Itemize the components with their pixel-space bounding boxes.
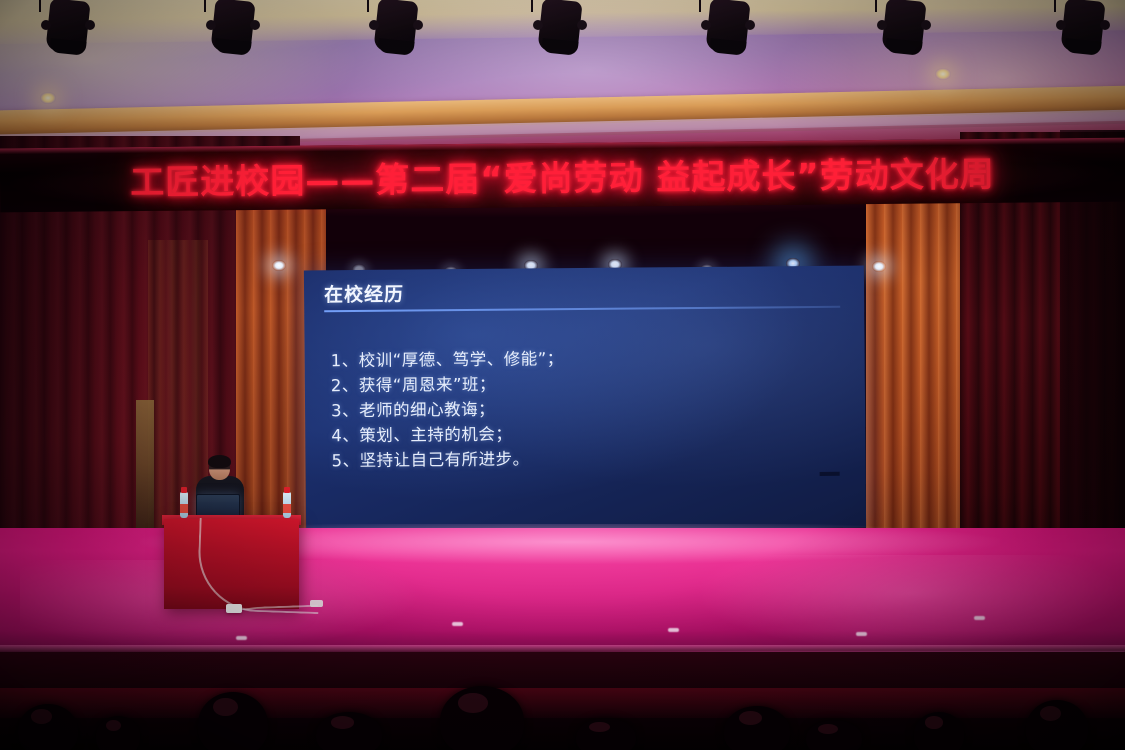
audience-head [806, 720, 862, 750]
floor-sparkle [668, 628, 679, 632]
ceiling-downlight [40, 92, 56, 104]
slide-title-rule [324, 306, 840, 313]
bottle-cap [181, 487, 187, 493]
audience-head [18, 704, 78, 750]
audience-head [1026, 700, 1088, 750]
slide-bullet-list: 1、校训“厚德、笃学、修能”；2、获得“周恩来”班；3、老师的细心教诲；4、策划… [331, 344, 842, 473]
power-adapter-brick [226, 604, 242, 613]
auditorium-photo: 工匠进校园——第二届“爱尚劳动 益起成长”劳动文化周 在校经历 1、校训“厚德、… [0, 0, 1125, 750]
audience-head [914, 712, 964, 750]
floor-sparkle [452, 622, 463, 626]
slide-bullet: 5、坚持让自己有所进步。 [331, 444, 841, 473]
floor-light-pool-right [700, 555, 1120, 650]
spotlight [872, 261, 886, 272]
audience-head [316, 712, 382, 750]
spotlight [272, 260, 286, 271]
floor-sparkle [856, 632, 867, 636]
floor-sparkle [974, 616, 985, 620]
presenter-hair [208, 455, 231, 468]
bottle-cap [284, 487, 290, 493]
stage-door-gap [136, 400, 154, 528]
audience-seat-row [0, 688, 1125, 718]
led-banner: 工匠进校园——第二届“爱尚劳动 益起成长”劳动文化周 [0, 138, 1125, 213]
projection-screen: 在校经历 1、校训“厚德、笃学、修能”；2、获得“周恩来”班；3、老师的细心教诲… [304, 266, 866, 533]
audience-head [440, 686, 524, 750]
power-adapter-plug [310, 600, 323, 607]
bottle-label [283, 504, 291, 513]
audience-head [576, 718, 636, 750]
floor-sparkle [236, 636, 247, 640]
audience-area [0, 652, 1125, 750]
slide-title: 在校经历 [324, 280, 404, 308]
bottle-label [180, 504, 188, 513]
audience-head [96, 716, 140, 750]
led-banner-text: 工匠进校园——第二届“爱尚劳动 益起成长”劳动文化周 [130, 146, 995, 203]
slide-footer-mark [820, 472, 840, 476]
audience-head [724, 706, 790, 750]
ceiling-downlight [935, 68, 951, 80]
water-bottle-left [180, 492, 188, 518]
water-bottle-right [283, 492, 291, 518]
audience-head [198, 692, 268, 750]
